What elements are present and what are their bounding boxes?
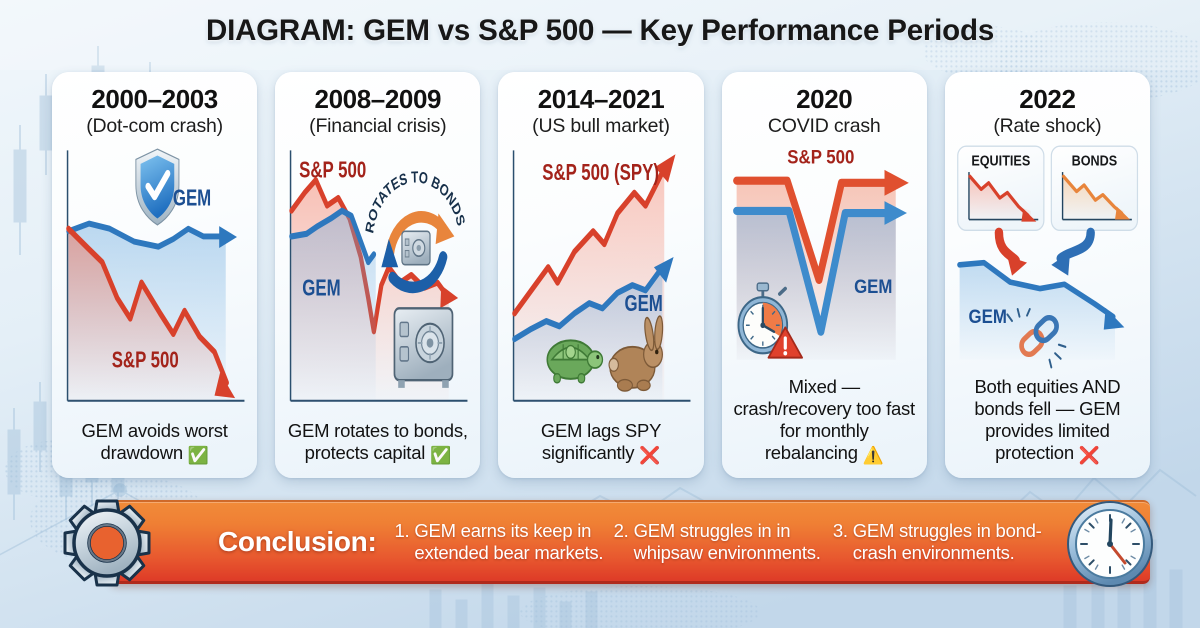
panel-caption: Mixed — crash/recovery too fast for mont…	[731, 376, 918, 468]
panel-year: 2020	[731, 86, 918, 114]
panel-year: 2008–2009	[284, 86, 471, 114]
panel-caption: GEM lags SPY significantly ❌	[507, 420, 694, 468]
mini-chart-label-bonds: BONDS	[1071, 153, 1117, 169]
clock-icon	[1062, 499, 1158, 589]
conclusion-bar: Conclusion: 1. GEM earns its keep in ext…	[110, 500, 1150, 584]
conclusion-item-number: 1.	[394, 520, 409, 564]
conclusion-items: 1. GEM earns its keep in extended bear m…	[394, 520, 1042, 564]
cross-badge-icon: ❌	[639, 446, 660, 465]
panel-subtitle: COVID crash	[731, 115, 918, 138]
panel-chart: ROTATES TO BONDS S&P	[284, 144, 471, 420]
warning-badge-icon: ⚠️	[863, 446, 884, 465]
check-badge-icon: ✅	[188, 446, 209, 465]
series-label-sp500: S&P 500	[299, 158, 366, 183]
panel-subtitle: (US bull market)	[507, 115, 694, 138]
conclusion-item-text: GEM struggles in in whipsaw environments…	[634, 520, 823, 564]
panel-year: 2022	[954, 86, 1141, 114]
panel-subtitle: (Financial crisis)	[284, 115, 471, 138]
panel-caption: GEM avoids worst drawdown ✅	[61, 420, 248, 468]
panel-2000-2003[interactable]: 2000–2003 (Dot-com crash)	[52, 72, 257, 478]
panel-header: 2014–2021 (US bull market)	[507, 86, 694, 138]
panel-2020[interactable]: 2020 COVID crash	[722, 72, 927, 478]
panel-chart: S&P 500 (SPY) GEM	[507, 144, 694, 420]
conclusion-item-text: GEM struggles in bond-crash environments…	[853, 520, 1042, 564]
series-label-sp500: S&P 500	[112, 348, 179, 373]
series-label-gem: GEM	[625, 291, 663, 316]
page-title: DIAGRAM: GEM vs S&P 500 — Key Performanc…	[0, 14, 1200, 48]
conclusion-item-number: 3.	[833, 520, 848, 564]
mini-chart-equities: EQUITIES	[958, 146, 1044, 230]
mini-chart-bonds: BONDS	[1051, 146, 1137, 230]
panel-caption-text: Mixed — crash/recovery too fast for mont…	[734, 376, 915, 463]
bonds-down-arrow	[1051, 232, 1090, 275]
conclusion-section: Conclusion: 1. GEM earns its keep in ext…	[52, 498, 1150, 588]
panel-row: 2000–2003 (Dot-com crash)	[52, 72, 1150, 478]
series-label-gem: GEM	[854, 276, 892, 297]
rotation-label: ROTATES TO BONDS	[363, 167, 469, 234]
panel-subtitle: (Rate shock)	[954, 115, 1141, 138]
gear-icon	[52, 498, 162, 588]
conclusion-item-number: 2.	[614, 520, 629, 564]
panel-header: 2022 (Rate shock)	[954, 86, 1141, 138]
series-label-gem: GEM	[302, 276, 340, 301]
panel-chart: EQUITIES BONDS	[954, 144, 1141, 376]
panel-header: 2000–2003 (Dot-com crash)	[61, 86, 248, 138]
mini-chart-label-equities: EQUITIES	[971, 153, 1030, 169]
conclusion-label: Conclusion:	[218, 526, 376, 558]
panel-2008-2009[interactable]: 2008–2009 (Financial crisis)	[275, 72, 480, 478]
panel-header: 2020 COVID crash	[731, 86, 918, 138]
conclusion-item: 2. GEM struggles in in whipsaw environme…	[614, 520, 823, 564]
conclusion-item: 1. GEM earns its keep in extended bear m…	[394, 520, 603, 564]
panel-2014-2021[interactable]: 2014–2021 (US bull market)	[498, 72, 703, 478]
equities-down-arrow	[999, 232, 1027, 275]
cross-badge-icon: ❌	[1079, 446, 1100, 465]
panel-caption: Both equities AND bonds fell — GEM provi…	[954, 376, 1141, 468]
panel-year: 2014–2021	[507, 86, 694, 114]
panel-caption: GEM rotates to bonds, protects capital ✅	[284, 420, 471, 468]
safe-vault-icon-large	[395, 308, 453, 388]
panel-2022[interactable]: 2022 (Rate shock)	[945, 72, 1150, 478]
panel-chart: GEM S&P 500	[61, 144, 248, 420]
panel-chart: S&P 500 GEM	[731, 144, 918, 376]
series-label-sp500-spy: S&P 500 (SPY)	[543, 160, 660, 185]
safe-vault-icon-small	[402, 231, 430, 264]
conclusion-item-text: GEM earns its keep in extended bear mark…	[414, 520, 603, 564]
series-label-gem: GEM	[173, 186, 211, 211]
page-title-container: DIAGRAM: GEM vs S&P 500 — Key Performanc…	[0, 14, 1200, 48]
check-badge-icon: ✅	[430, 446, 451, 465]
series-label-gem: GEM	[968, 306, 1006, 327]
series-label-sp500: S&P 500	[787, 146, 854, 167]
panel-subtitle: (Dot-com crash)	[61, 115, 248, 138]
panel-header: 2008–2009 (Financial crisis)	[284, 86, 471, 138]
panel-year: 2000–2003	[61, 86, 248, 114]
conclusion-item: 3. GEM struggles in bond-crash environme…	[833, 520, 1042, 564]
